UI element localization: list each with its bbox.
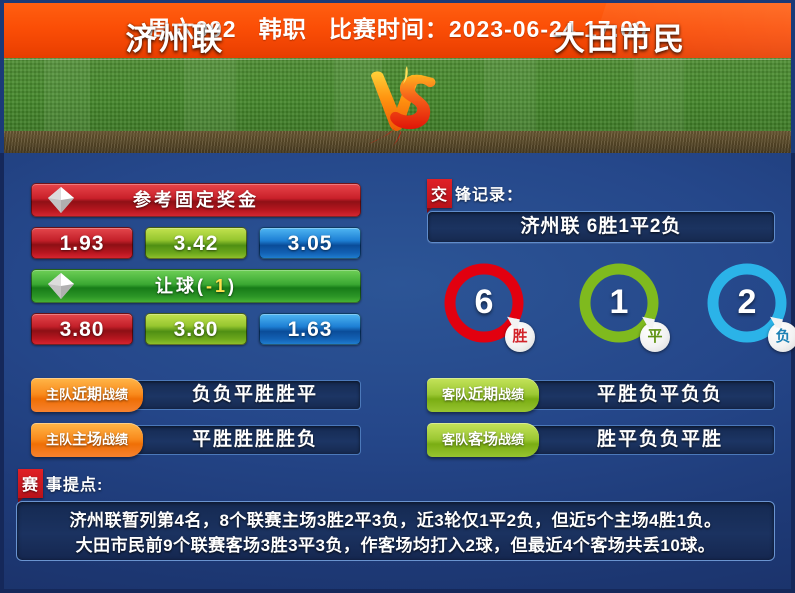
home-recent-form-row: 主队近期战绩 负负平胜胜平 — [31, 380, 361, 410]
vs-flame-icon — [355, 58, 447, 150]
away-venue-form-row: 客队客场战绩 胜平负负平胜 — [427, 425, 775, 455]
h2h-win-badge: 胜 — [505, 322, 535, 352]
tips-box: 济州联暂列第4名，8个联赛主场3胜2平3负，近3轮仅1平2负，但近5个主场4胜1… — [16, 501, 775, 561]
handicap-title: 让球(-1) — [32, 270, 360, 302]
pill-prefix: 主队 — [46, 432, 72, 447]
h2h-ring-draw: 1 平 — [576, 260, 662, 346]
away-recent-form-pill: 客队近期战绩 — [427, 378, 539, 412]
handicap-suffix: ) — [228, 276, 237, 296]
diamond-icon — [46, 185, 76, 215]
pill-prefix: 客队 — [442, 387, 468, 402]
handicap-title-bar: 让球(-1) — [31, 269, 361, 303]
home-venue-form-row: 主队主场战绩 平胜胜胜胜负 — [31, 425, 361, 455]
away-recent-form-row: 客队近期战绩 平胜负平负负 — [427, 380, 775, 410]
h2h-draw-badge: 平 — [640, 322, 670, 352]
pill-suffix: 战绩 — [498, 387, 524, 402]
handicap-value: -1 — [206, 276, 228, 296]
pill-prefix: 主队 — [46, 387, 72, 402]
h2h-lose-badge: 负 — [768, 322, 795, 352]
tips-line-2: 大田市民前9个联赛客场3胜3平3负，作客场均打入2球，但最近4个客场共丢10球。 — [27, 533, 764, 558]
home-recent-form-value: 负负平胜胜平 — [149, 380, 361, 410]
fixed-odd-lose[interactable]: 3.05 — [259, 227, 361, 259]
main-panel: 参考固定奖金 1.93 3.42 3.05 让球(-1) 3.80 3.80 1… — [0, 153, 795, 593]
tips-section-label: 赛事提点: — [18, 469, 103, 498]
pill-suffix: 战绩 — [498, 432, 524, 447]
tips-flag-icon: 赛 — [18, 469, 43, 498]
h2h-ring-lose: 2 负 — [704, 260, 790, 346]
fixed-odds-title-bar: 参考固定奖金 — [31, 183, 361, 217]
h2h-section-label-text: 锋记录： — [455, 187, 523, 204]
home-venue-form-pill: 主队主场战绩 — [31, 423, 143, 457]
h2h-section-label: 交锋记录： — [427, 179, 523, 208]
handicap-odd-win[interactable]: 3.80 — [31, 313, 133, 345]
pill-highlight: 客场 — [468, 431, 498, 448]
tips-section-label-text: 事提点: — [46, 477, 103, 494]
away-recent-form-value: 平胜负平负负 — [545, 380, 775, 410]
pill-highlight: 近期 — [72, 386, 102, 403]
fixed-odds-title: 参考固定奖金 — [32, 184, 360, 216]
handicap-prefix: 让球( — [155, 276, 206, 296]
pill-highlight: 近期 — [468, 386, 498, 403]
handicap-odd-lose[interactable]: 1.63 — [259, 313, 361, 345]
fixed-odd-draw[interactable]: 3.42 — [145, 227, 247, 259]
h2h-summary-bar: 济州联 6胜1平2负 — [427, 211, 775, 243]
tips-line-1: 济州联暂列第4名，8个联赛主场3胜2平3负，近3轮仅1平2负，但近5个主场4胜1… — [27, 508, 764, 533]
home-recent-form-pill: 主队近期战绩 — [31, 378, 143, 412]
diamond-icon — [46, 271, 76, 301]
handicap-odd-draw[interactable]: 3.80 — [145, 313, 247, 345]
fixed-odd-win[interactable]: 1.93 — [31, 227, 133, 259]
match-preview-card: 周六002 韩职 比赛时间：2023-06-24 17:00 济州联 大田市民 — [0, 0, 795, 593]
pill-suffix: 战绩 — [102, 432, 128, 447]
home-venue-form-value: 平胜胜胜胜负 — [149, 425, 361, 455]
pill-highlight: 主场 — [72, 431, 102, 448]
pill-suffix: 战绩 — [102, 387, 128, 402]
away-venue-form-pill: 客队客场战绩 — [427, 423, 539, 457]
h2h-flag-icon: 交 — [427, 179, 452, 208]
pill-prefix: 客队 — [442, 432, 468, 447]
h2h-ring-win: 6 胜 — [441, 260, 527, 346]
home-team-name: 济州联 — [10, 14, 340, 59]
away-venue-form-value: 胜平负负平胜 — [545, 425, 775, 455]
away-team-name: 大田市民 — [455, 14, 785, 59]
